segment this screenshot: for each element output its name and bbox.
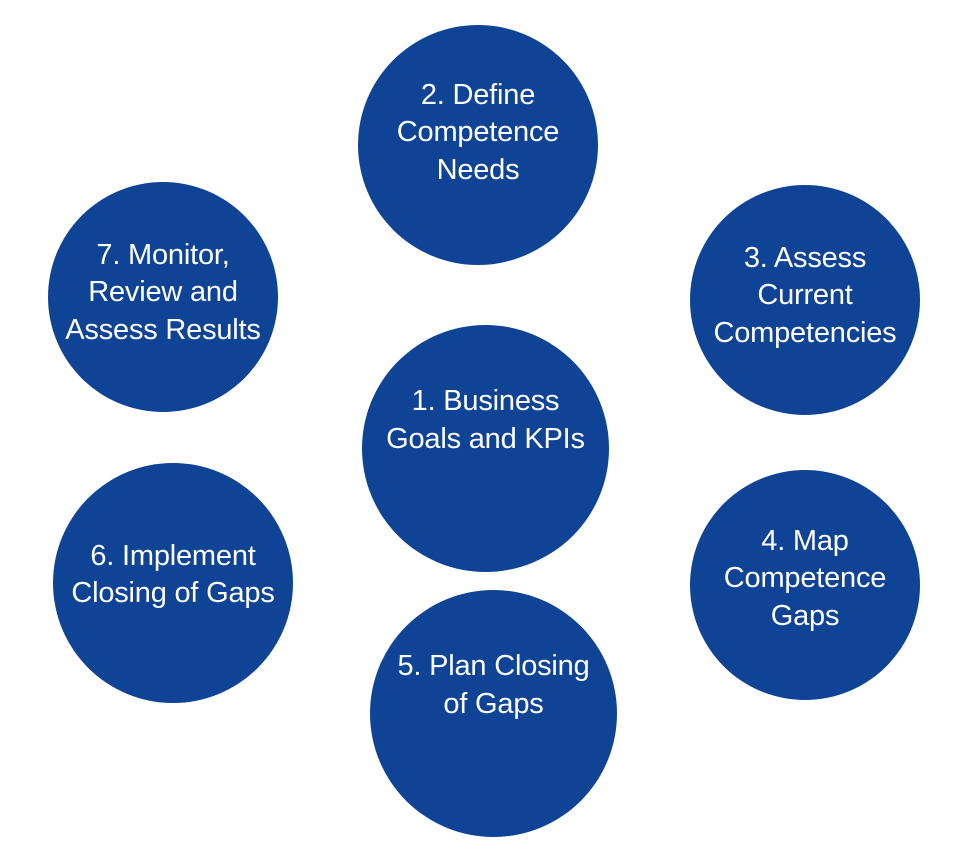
circle-node-business-goals-and-kpis[interactable]: 1. Business Goals and KPIs [362, 325, 609, 572]
node-label-step-2: 2. Define Competence Needs [358, 77, 598, 188]
circle-node-assess-current-competencies[interactable]: 3. Assess Current Competencies [690, 185, 920, 415]
competence-cycle-diagram: 2. Define Competence Needs 7. Monitor, R… [0, 0, 970, 851]
node-label-step-6: 6. Implement Closing of Gaps [53, 538, 293, 612]
circle-node-map-competence-gaps[interactable]: 4. Map Competence Gaps [690, 470, 920, 700]
node-label-step-1: 1. Business Goals and KPIs [362, 383, 609, 457]
node-label-step-4: 4. Map Competence Gaps [690, 523, 920, 634]
circle-node-define-competence-needs[interactable]: 2. Define Competence Needs [358, 25, 598, 265]
circle-node-plan-closing-of-gaps[interactable]: 5. Plan Closing of Gaps [370, 590, 617, 837]
node-label-step-7: 7. Monitor, Review and Assess Results [48, 237, 278, 348]
circle-node-monitor-review-assess-results[interactable]: 7. Monitor, Review and Assess Results [48, 182, 278, 412]
node-label-step-3: 3. Assess Current Competencies [690, 240, 920, 351]
circle-node-implement-closing-of-gaps[interactable]: 6. Implement Closing of Gaps [53, 463, 293, 703]
node-label-step-5: 5. Plan Closing of Gaps [370, 648, 617, 722]
